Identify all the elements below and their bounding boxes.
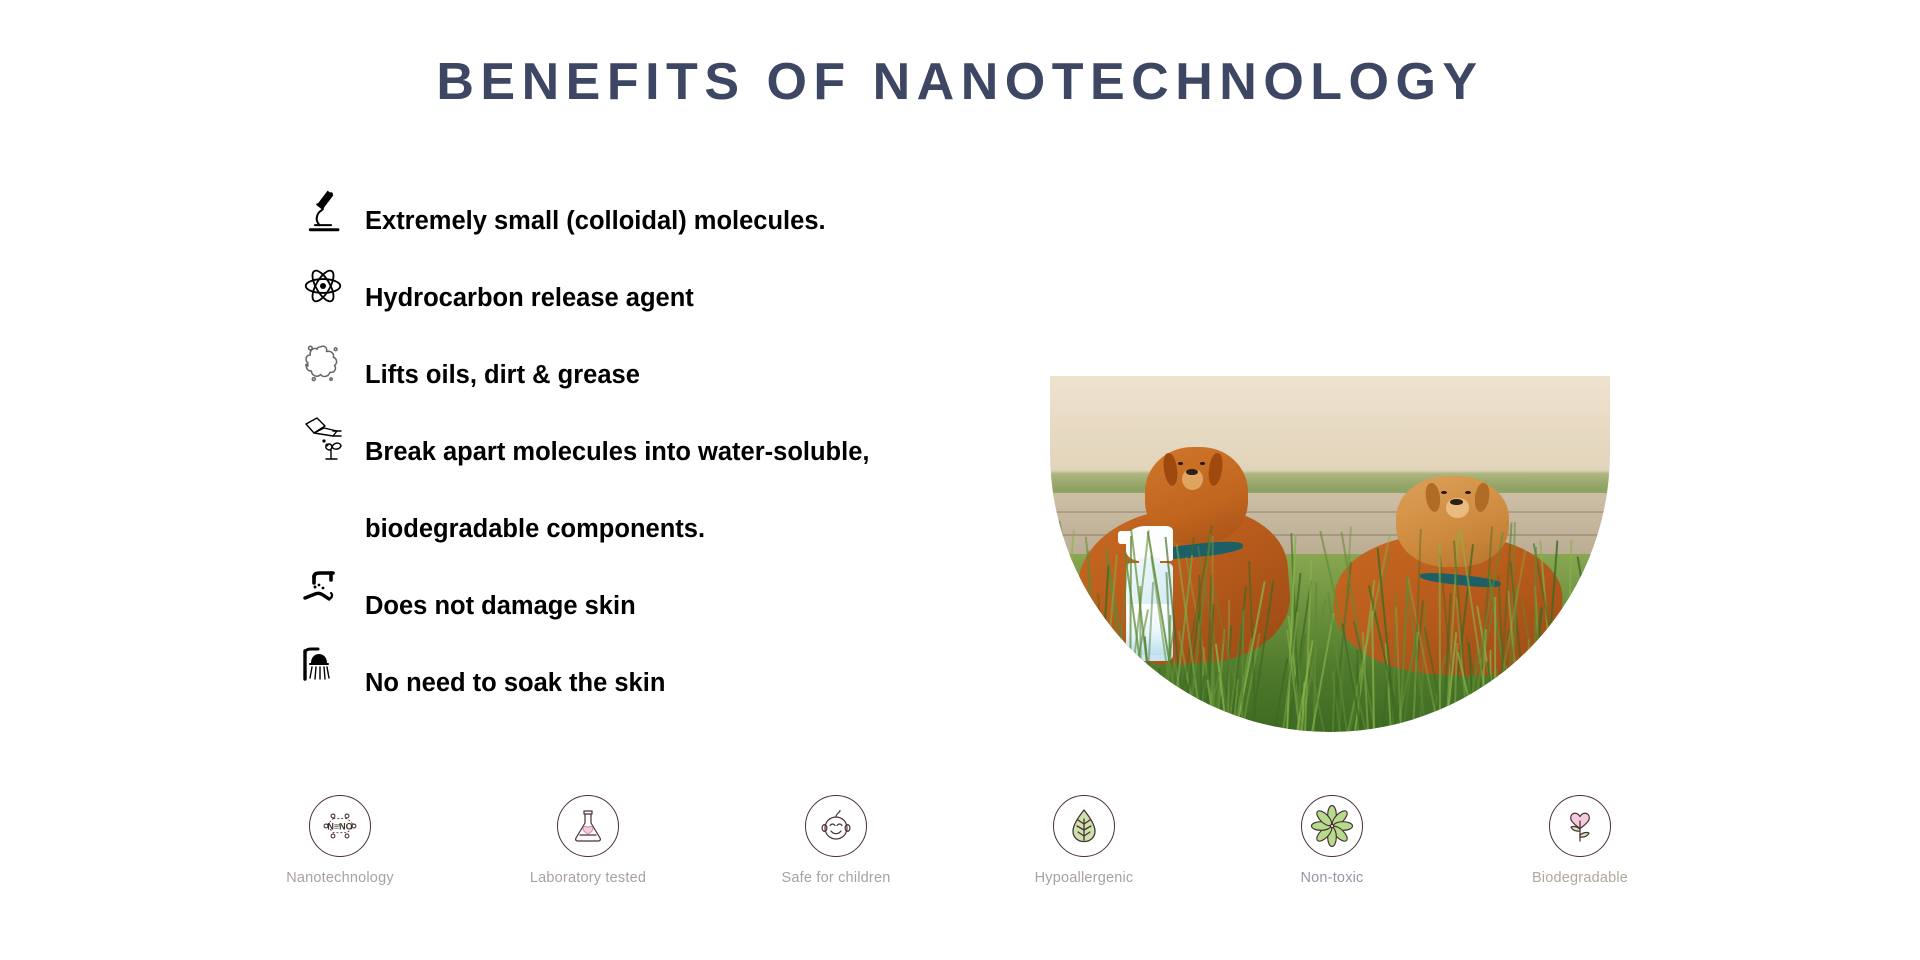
badge-label: Safe for children (782, 870, 891, 886)
watering-can-sprout-icon (300, 414, 346, 466)
page-title: BENEFITS OF NANOTECHNOLOGY (0, 52, 1920, 112)
spacer-icon (300, 491, 346, 543)
microscope-icon (300, 183, 346, 235)
list-item: Does not damage skin (300, 568, 1000, 645)
badge-label: Hypoallergenic (1035, 870, 1134, 886)
splatter-stain-icon (300, 337, 346, 389)
badge-biodegradable[interactable]: Biodegradable (1490, 795, 1670, 886)
benefit-text: Extremely small (colloidal) molecules. (365, 183, 1000, 260)
list-item: Lifts oils, dirt & grease (300, 337, 1000, 414)
list-item: biodegradable components. (300, 491, 1000, 568)
badge-ring (1549, 795, 1611, 857)
badge-nanotechnology[interactable]: N≡NO Nanotechnology (250, 795, 430, 886)
badge-ring (1053, 795, 1115, 857)
badge-label: Nanotechnology (286, 870, 394, 886)
benefit-text: biodegradable components. (365, 491, 1000, 568)
benefit-text: Break apart molecules into water-soluble… (365, 414, 1000, 491)
badge-hypoallergenic[interactable]: Hypoallergenic (994, 795, 1174, 886)
badge-ring: N≡NO (309, 795, 371, 857)
slide-root: BENEFITS OF NANOTECHNOLOGY Extremely sma… (0, 0, 1920, 960)
benefits-list: Extremely small (colloidal) molecules. H… (300, 183, 1000, 722)
badge-ring (557, 795, 619, 857)
atom-icon (300, 260, 346, 312)
benefit-text: Hydrocarbon release agent (365, 260, 1000, 337)
badge-ring (1301, 795, 1363, 857)
badge-label: Laboratory tested (530, 870, 646, 886)
badge-label: Biodegradable (1532, 870, 1628, 886)
benefit-text: No need to soak the skin (365, 645, 1000, 722)
trust-badges-row: N≡NO Nanotechnology Laboratory tested (250, 795, 1670, 886)
badge-laboratory-tested[interactable]: Laboratory tested (498, 795, 678, 886)
shower-head-icon (300, 645, 346, 697)
badge-safe-for-children[interactable]: Safe for children (746, 795, 926, 886)
benefit-text: Does not damage skin (365, 568, 1000, 645)
list-item: Extremely small (colloidal) molecules. (300, 183, 1000, 260)
badge-label: Non-toxic (1300, 870, 1363, 886)
benefit-text: Lifts oils, dirt & grease (365, 337, 1000, 414)
hand-wash-faucet-icon (300, 568, 346, 620)
badge-non-toxic[interactable]: Non-toxic (1242, 795, 1422, 886)
badge-ring (805, 795, 867, 857)
list-item: Break apart molecules into water-soluble… (300, 414, 1000, 491)
dogs-photo (1050, 376, 1610, 732)
list-item: No need to soak the skin (300, 645, 1000, 722)
list-item: Hydrocarbon release agent (300, 260, 1000, 337)
